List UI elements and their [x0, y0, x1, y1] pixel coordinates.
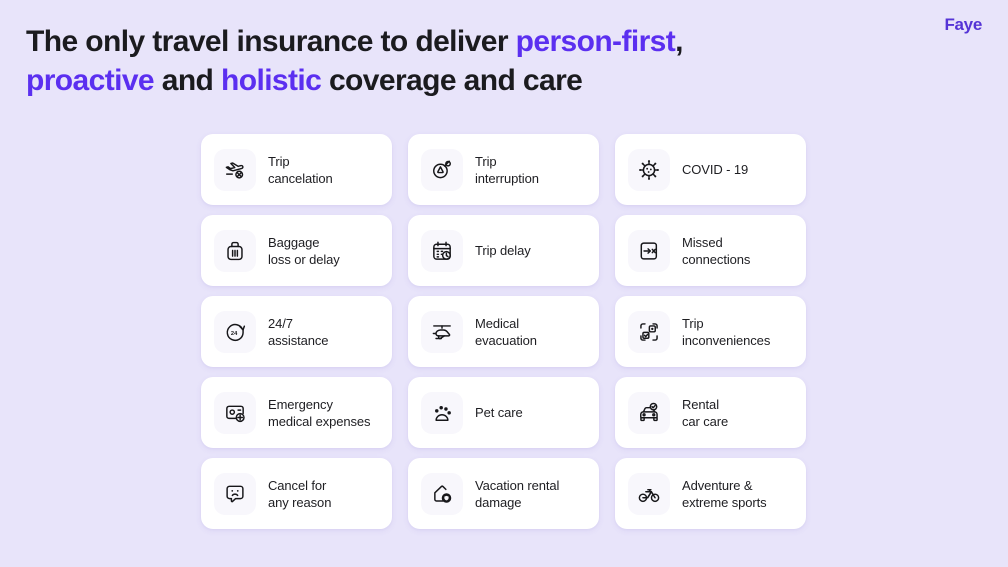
medical-card-plus-icon	[214, 392, 256, 434]
coverage-card[interactable]: Vacation rental damage	[408, 458, 599, 529]
coverage-card[interactable]: 24/7 assistance	[201, 296, 392, 367]
arrow-exit-x-icon	[628, 230, 670, 272]
coverage-card[interactable]: Adventure & extreme sports	[615, 458, 806, 529]
coverage-card-label: Trip cancelation	[268, 153, 333, 187]
coverage-card[interactable]: Trip inconveniences	[615, 296, 806, 367]
headline-accent-person-first: person-first	[516, 25, 676, 58]
coverage-card[interactable]: Baggage loss or delay	[201, 215, 392, 286]
plane-cancel-icon	[214, 149, 256, 191]
coverage-card[interactable]: Trip interruption	[408, 134, 599, 205]
clock-24-7-icon	[214, 311, 256, 353]
headline-text-2: ,	[675, 25, 683, 58]
coverage-card-label: Trip inconveniences	[682, 315, 770, 349]
coverage-card-label: Adventure & extreme sports	[682, 477, 767, 511]
coverage-card-label: 24/7 assistance	[268, 315, 328, 349]
headline-accent-proactive: proactive	[26, 64, 154, 97]
headline-text-3: and	[154, 64, 221, 97]
coverage-card-label: Emergency medical expenses	[268, 396, 370, 430]
coverage-card[interactable]: COVID - 19	[615, 134, 806, 205]
car-check-icon	[628, 392, 670, 434]
coverage-card-label: Baggage loss or delay	[268, 234, 340, 268]
virus-icon	[628, 149, 670, 191]
checklist-box-icon	[628, 311, 670, 353]
coverage-card[interactable]: Rental car care	[615, 377, 806, 448]
location-pin-alert-icon	[421, 149, 463, 191]
headline-text-1: The only travel insurance to deliver	[26, 25, 516, 58]
page-title: The only travel insurance to deliver per…	[26, 22, 906, 100]
coverage-card-grid: Trip cancelationTrip interruptionCOVID -…	[201, 134, 807, 529]
coverage-card-label: Trip interruption	[475, 153, 539, 187]
faye-logo: Faye	[944, 16, 982, 33]
coverage-card-label: COVID - 19	[682, 161, 748, 178]
suitcase-icon	[214, 230, 256, 272]
coverage-card[interactable]: Pet care	[408, 377, 599, 448]
coverage-card[interactable]: Medical evacuation	[408, 296, 599, 367]
headline-accent-holistic: holistic	[221, 64, 321, 97]
coverage-card-label: Medical evacuation	[475, 315, 537, 349]
coverage-card[interactable]: Trip delay	[408, 215, 599, 286]
coverage-card[interactable]: Trip cancelation	[201, 134, 392, 205]
house-shield-icon	[421, 473, 463, 515]
coverage-card[interactable]: Emergency medical expenses	[201, 377, 392, 448]
calendar-clock-icon	[421, 230, 463, 272]
paw-print-icon	[421, 392, 463, 434]
coverage-card[interactable]: Missed connections	[615, 215, 806, 286]
helicopter-icon	[421, 311, 463, 353]
coverage-card[interactable]: Cancel for any reason	[201, 458, 392, 529]
bicycle-icon	[628, 473, 670, 515]
coverage-card-label: Vacation rental damage	[475, 477, 559, 511]
coverage-card-label: Missed connections	[682, 234, 750, 268]
headline-text-4: coverage and care	[321, 64, 582, 97]
coverage-card-label: Cancel for any reason	[268, 477, 331, 511]
sad-face-icon	[214, 473, 256, 515]
coverage-card-label: Rental car care	[682, 396, 728, 430]
coverage-card-label: Trip delay	[475, 242, 531, 259]
coverage-card-label: Pet care	[475, 404, 523, 421]
